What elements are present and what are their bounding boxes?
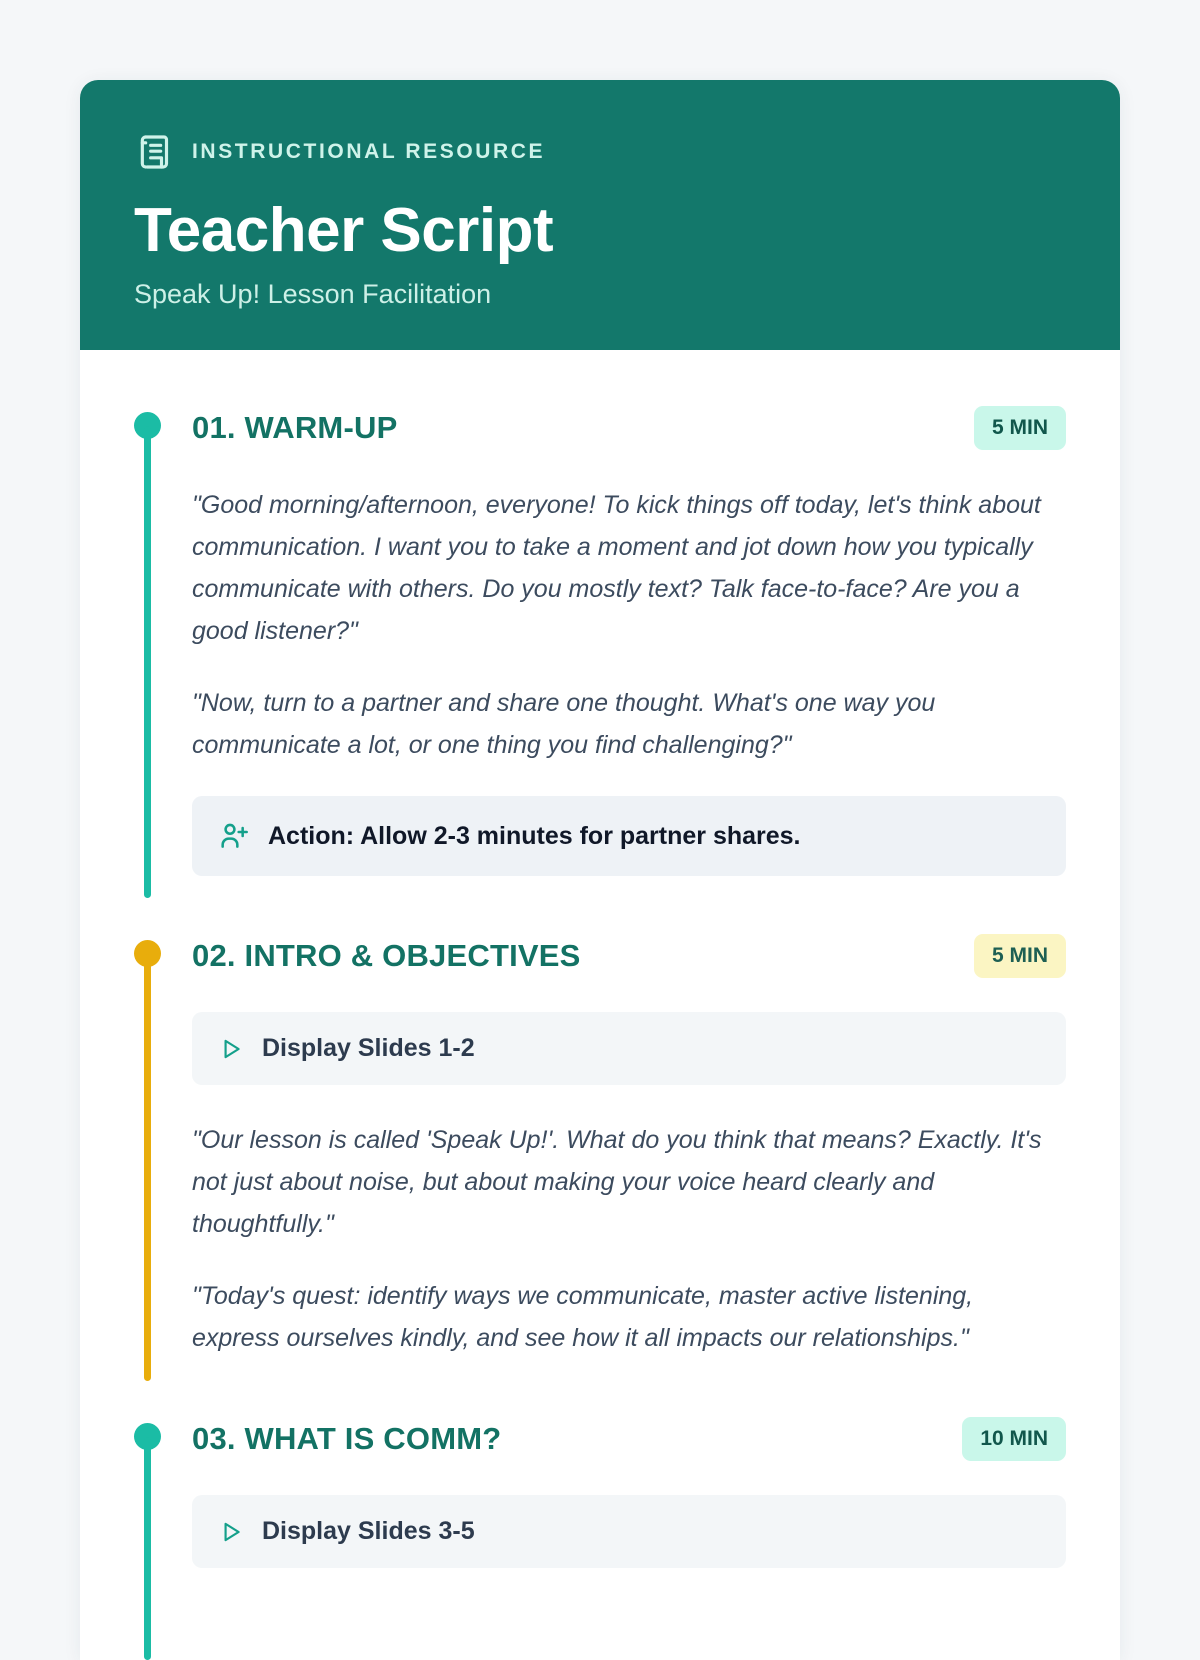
section-header: 03. WHAT IS COMM? 10 MIN [192,1417,1066,1461]
section-content: 01. WARM-UP 5 MIN "Good morning/afternoo… [192,406,1066,934]
section-header: 01. WARM-UP 5 MIN [192,406,1066,450]
card-header: INSTRUCTIONAL RESOURCE Teacher Script Sp… [80,80,1120,350]
eyebrow-label: INSTRUCTIONAL RESOURCE [192,140,545,164]
scroll-document-icon [134,132,174,172]
timeline-line [144,1437,151,1660]
slide-cue-label: Display Slides 3-5 [262,1517,475,1546]
timeline-line [144,954,151,1381]
play-triangle-icon [218,1036,244,1062]
duration-badge: 10 MIN [962,1417,1066,1461]
section-header: 02. INTRO & OBJECTIVES 5 MIN [192,934,1066,978]
lesson-section: 03. WHAT IS COMM? 10 MIN Display Slides … [134,1417,1066,1660]
duration-badge: 5 MIN [974,934,1066,978]
sections-list: 01. WARM-UP 5 MIN "Good morning/afternoo… [80,350,1120,1660]
duration-badge: 5 MIN [974,406,1066,450]
lesson-section: 01. WARM-UP 5 MIN "Good morning/afternoo… [134,406,1066,934]
script-paragraph: "Good morning/afternoon, everyone! To ki… [192,484,1066,652]
action-note-text: Action: Allow 2-3 minutes for partner sh… [268,822,801,851]
user-plus-icon [218,820,250,852]
section-content: 03. WHAT IS COMM? 10 MIN Display Slides … [192,1417,1066,1660]
eyebrow-row: INSTRUCTIONAL RESOURCE [134,132,1066,172]
slide-cue[interactable]: Display Slides 1-2 [192,1012,1066,1085]
script-paragraph: "Today's quest: identify ways we communi… [192,1275,1066,1359]
script-paragraph: "Our lesson is called 'Speak Up!'. What … [192,1119,1066,1245]
page-subtitle: Speak Up! Lesson Facilitation [134,279,1066,310]
slide-cue[interactable]: Display Slides 3-5 [192,1495,1066,1568]
action-note: Action: Allow 2-3 minutes for partner sh… [192,796,1066,876]
slide-cue-label: Display Slides 1-2 [262,1034,475,1063]
timeline-rail [134,406,192,934]
script-paragraph: "Now, turn to a partner and share one th… [192,682,1066,766]
timeline-line [144,426,151,898]
timeline-rail [134,1417,192,1660]
section-title: 03. WHAT IS COMM? [192,1421,501,1457]
page-title: Teacher Script [134,198,1066,263]
timeline-rail [134,934,192,1417]
section-title: 01. WARM-UP [192,410,397,446]
teacher-script-card: INSTRUCTIONAL RESOURCE Teacher Script Sp… [80,80,1120,1660]
page-root: INSTRUCTIONAL RESOURCE Teacher Script Sp… [0,0,1200,1600]
play-triangle-icon [218,1519,244,1545]
section-content: 02. INTRO & OBJECTIVES 5 MIN Display Sli… [192,934,1066,1417]
lesson-section: 02. INTRO & OBJECTIVES 5 MIN Display Sli… [134,934,1066,1417]
section-title: 02. INTRO & OBJECTIVES [192,938,581,974]
